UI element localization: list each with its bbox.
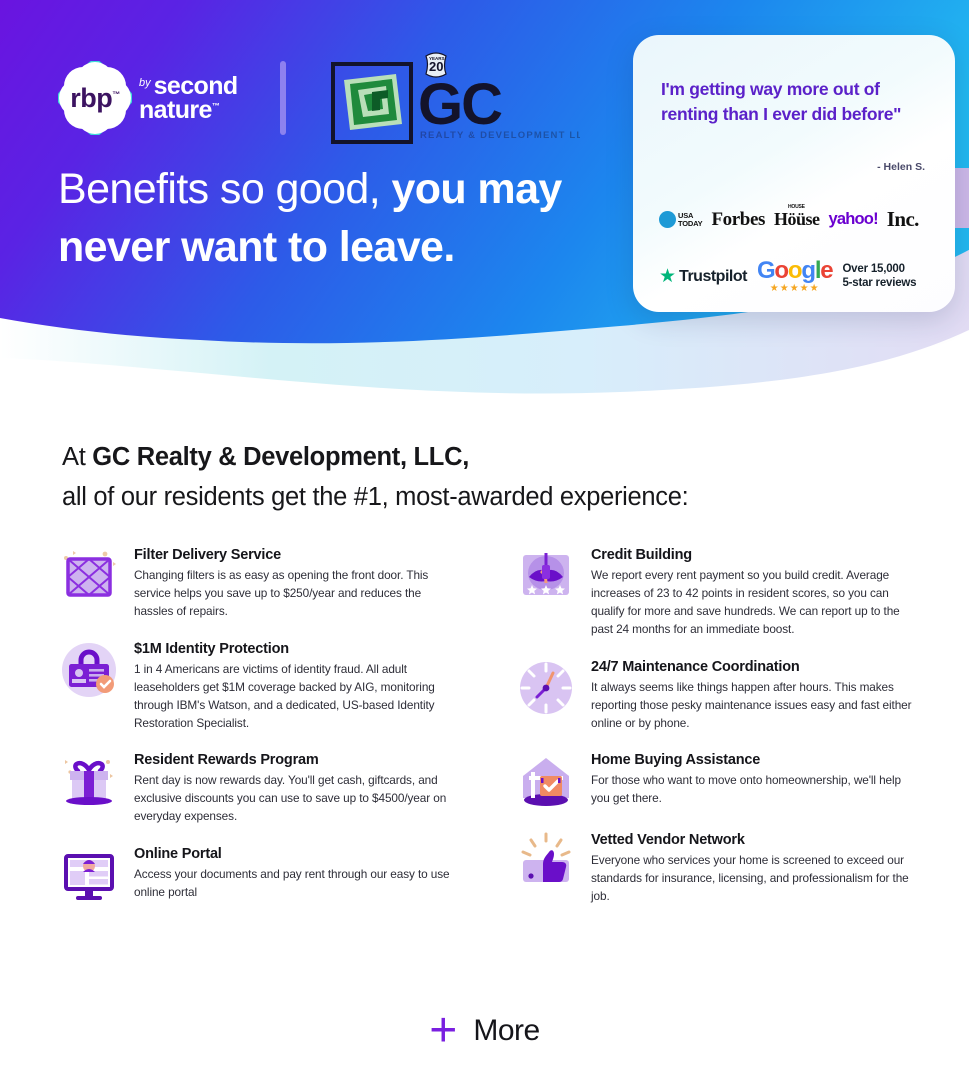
rbp-wordmark: rbp™: [70, 85, 120, 112]
testimonial-quote: I'm getting way more out of renting than…: [661, 77, 923, 127]
benefit-title: Vetted Vendor Network: [591, 832, 915, 848]
ratings-row: ★ Trustpilot Google ★★★★★ Over 15,000 5-…: [659, 259, 939, 294]
benefit-item: Filter Delivery Service Changing filters…: [58, 545, 458, 621]
nature-word: nature™: [139, 98, 238, 123]
trustpilot-star-icon: ★: [659, 267, 676, 286]
yahoo-logo: yahoo!: [829, 210, 878, 229]
benefits-flyer: rbp™ bysecond nature™: [0, 0, 969, 1080]
benefit-text: Home Buying Assistance For those who wan…: [591, 750, 915, 812]
press-logos-row: USA TODAY Forbes HOUSE Höüse yahoo! Inc.: [659, 207, 931, 232]
trustpilot-label: Trustpilot: [679, 268, 747, 286]
gc-tagline: REALTY & DEVELOPMENT LLC: [420, 130, 580, 141]
gc-realty-logo: GC REALTY & DEVELOPMENT LLC 20 YEARS: [330, 52, 580, 144]
benefit-text: Resident Rewards Program Rent day is now…: [134, 750, 458, 826]
second-nature-wordmark: bysecond nature™: [139, 74, 238, 123]
logo-row: rbp™ bysecond nature™: [58, 52, 580, 144]
hero-banner: rbp™ bysecond nature™: [0, 0, 969, 400]
forbes-logo: Forbes: [711, 209, 765, 231]
rbp-burst-mark: rbp™: [58, 61, 132, 135]
benefit-text: Vetted Vendor Network Everyone who servi…: [591, 830, 915, 906]
benefit-text: $1M Identity Protection 1 in 4 Americans…: [134, 639, 458, 733]
thumbs-up-icon: [515, 830, 577, 892]
benefit-desc: It always seems like things happen after…: [591, 679, 915, 733]
benefits-column-right: Credit Building We report every rent pay…: [515, 545, 915, 924]
benefit-text: 24/7 Maintenance Coordination It always …: [591, 657, 915, 733]
identity-shield-icon: [58, 639, 120, 701]
section-line1-prefix: At: [62, 443, 92, 471]
house-beautiful-logo: HOUSE Höüse: [774, 209, 820, 230]
svg-text:20: 20: [429, 59, 443, 74]
benefit-desc: For those who want to move onto homeowne…: [591, 772, 915, 808]
testimonial-attribution: - Helen S.: [877, 161, 925, 173]
gc-anniversary-badge: 20 YEARS: [426, 53, 446, 77]
plus-icon: +: [429, 1012, 457, 1050]
google-stars-icon: ★★★★★: [757, 284, 833, 294]
headline-line1-bold: you may: [380, 165, 562, 213]
inc-logo: Inc.: [887, 207, 919, 232]
by-word: by: [139, 78, 151, 89]
testimonial-card: I'm getting way more out of renting than…: [633, 35, 955, 312]
house-sup: HOUSE: [788, 204, 805, 210]
section-line2: all of our residents get the #1, most-aw…: [62, 483, 688, 511]
monitor-icon: [58, 844, 120, 906]
filter-icon: [58, 545, 120, 607]
benefit-item: $1M Identity Protection 1 in 4 Americans…: [58, 639, 458, 733]
trustpilot-logo: ★ Trustpilot: [659, 267, 747, 286]
reviews-line2: 5-star reviews: [842, 277, 916, 291]
benefit-desc: Changing filters is as easy as opening t…: [134, 567, 458, 621]
benefit-title: 24/7 Maintenance Coordination: [591, 659, 915, 675]
section-line1-bold: GC Realty & Development, LLC,: [92, 443, 469, 471]
gc-logo-svg: GC REALTY & DEVELOPMENT LLC 20 YEARS: [330, 52, 580, 144]
house-word: Höüse: [774, 209, 820, 229]
benefit-item: Home Buying Assistance For those who wan…: [515, 750, 915, 812]
benefit-text: Online Portal Access your documents and …: [134, 844, 458, 906]
reviews-line1: Over 15,000: [842, 263, 916, 277]
logo-divider: [280, 61, 286, 135]
benefit-title: Home Buying Assistance: [591, 752, 915, 768]
google-logo: Google ★★★★★: [757, 259, 833, 294]
usa-today-text: USA TODAY: [678, 212, 702, 227]
usa-today-logo: USA TODAY: [659, 211, 702, 228]
benefit-desc: Everyone who services your home is scree…: [591, 852, 915, 906]
benefit-title: Filter Delivery Service: [134, 547, 458, 563]
benefit-item: 24/7 Maintenance Coordination It always …: [515, 657, 915, 733]
benefit-desc: Access your documents and pay rent throu…: [134, 866, 458, 902]
house-check-icon: [515, 750, 577, 812]
benefit-item: Resident Rewards Program Rent day is now…: [58, 750, 458, 826]
section-heading: At GC Realty & Development, LLC, all of …: [62, 438, 688, 517]
benefit-item: Online Portal Access your documents and …: [58, 844, 458, 906]
google-wordmark: Google: [757, 259, 833, 283]
benefit-item: Vetted Vendor Network Everyone who servi…: [515, 830, 915, 906]
benefit-text: Credit Building We report every rent pay…: [591, 545, 915, 639]
headline-line2: never want to leave.: [58, 223, 455, 271]
rbp-logo: rbp™ bysecond nature™: [58, 61, 238, 135]
credit-badge-icon: [515, 545, 577, 607]
more-label: More: [473, 1014, 539, 1048]
hero-headline: Benefits so good, you may never want to …: [58, 160, 658, 276]
benefit-desc: We report every rent payment so you buil…: [591, 567, 915, 639]
svg-text:GC: GC: [418, 72, 502, 137]
benefit-desc: Rent day is now rewards day. You'll get …: [134, 772, 458, 826]
svg-text:YEARS: YEARS: [429, 56, 445, 61]
more-row[interactable]: + More: [0, 1012, 969, 1050]
benefit-desc: 1 in 4 Americans are victims of identity…: [134, 661, 458, 733]
benefit-text: Filter Delivery Service Changing filters…: [134, 545, 458, 621]
gift-icon: [58, 750, 120, 812]
benefit-title: $1M Identity Protection: [134, 641, 458, 657]
benefit-title: Online Portal: [134, 846, 458, 862]
benefit-item: Credit Building We report every rent pay…: [515, 545, 915, 639]
review-count: Over 15,000 5-star reviews: [842, 263, 916, 291]
usa-today-dot-icon: [659, 211, 676, 228]
benefits-column-left: Filter Delivery Service Changing filters…: [58, 545, 458, 924]
headline-line1-light: Benefits so good,: [58, 165, 380, 213]
clock-icon: [515, 657, 577, 719]
benefit-title: Resident Rewards Program: [134, 752, 458, 768]
benefit-title: Credit Building: [591, 547, 915, 563]
